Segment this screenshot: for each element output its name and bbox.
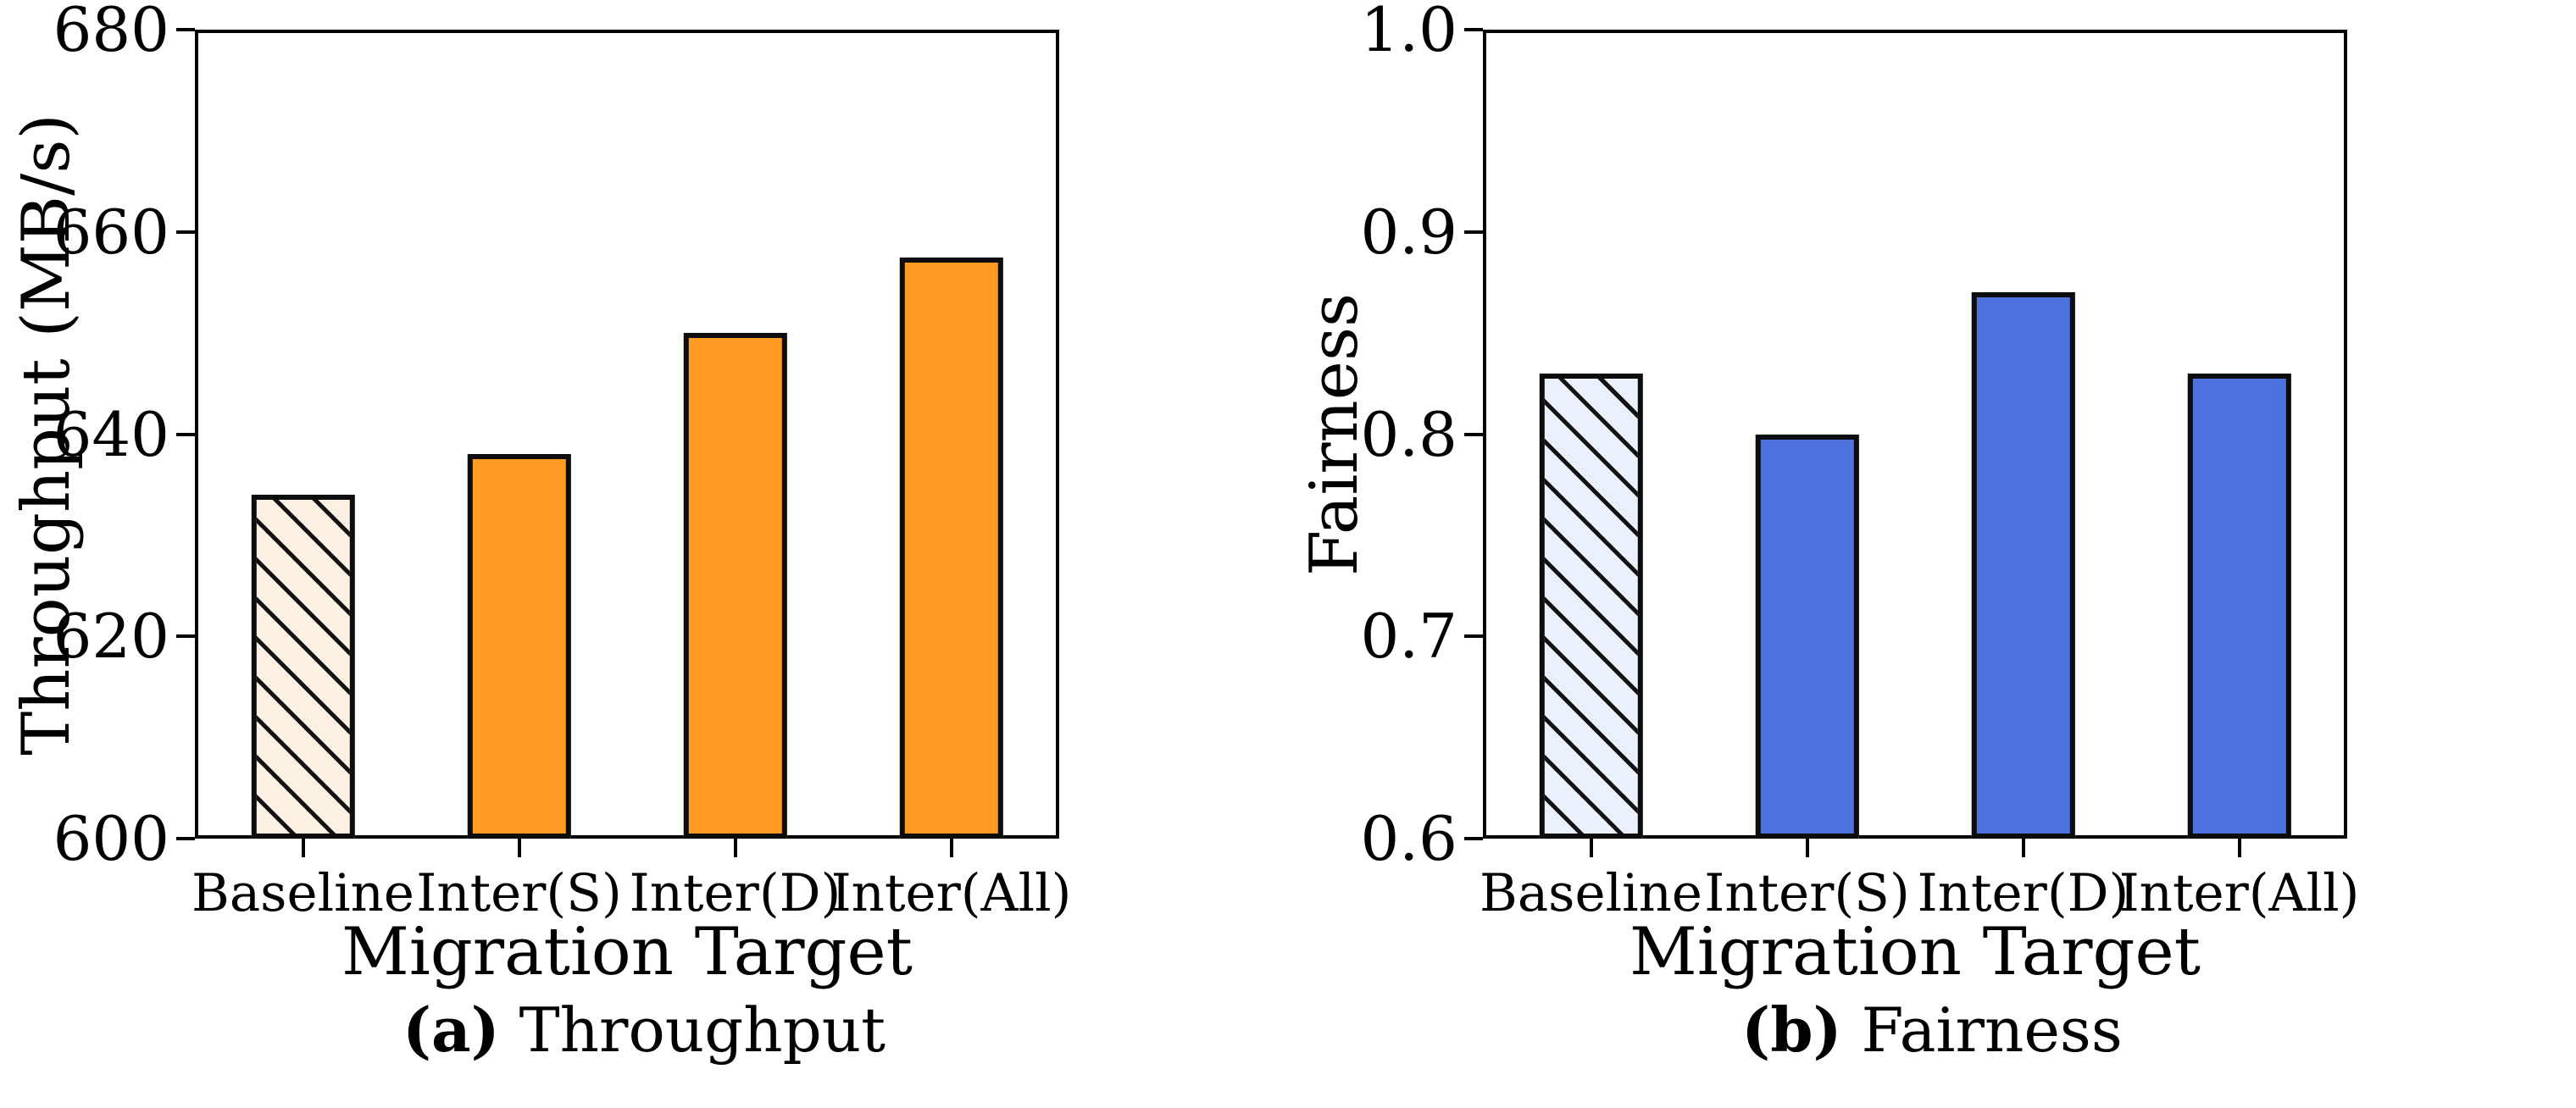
x-tick-label: Inter(S) [416, 867, 622, 919]
y-tick-mark [176, 230, 195, 234]
plot-area-fairness: 0.60.70.80.91.0BaselineInter(S)Inter(D)I… [1483, 30, 2347, 839]
y-tick-label: 0.9 [1360, 202, 1457, 263]
y-tick-label: 600 [53, 808, 169, 869]
y-tick-mark [1464, 433, 1483, 436]
bar-interd [683, 333, 786, 839]
bar-baseline [251, 495, 354, 839]
axes-fairness: 0.60.70.80.91.0BaselineInter(S)Inter(D)I… [1483, 30, 2347, 839]
bar-interd [1971, 292, 2074, 839]
x-tick-label: Inter(D) [1918, 867, 2129, 919]
y-tick-label: 640 [53, 404, 169, 465]
x-axis-label-fairness: Migration Target [1483, 919, 2347, 985]
y-tick-mark [1464, 230, 1483, 234]
y-tick-mark [1464, 837, 1483, 840]
panel-caption-fairness: (b) Fairness [1288, 1000, 2576, 1061]
axes-throughput: 600620640660680BaselineInter(S)Inter(D)I… [195, 30, 1059, 839]
bar-inters [467, 454, 570, 839]
y-tick-mark [176, 837, 195, 840]
y-axis-label-fairness-text: Fairness [1302, 292, 1368, 575]
figure-two-panel-bar-charts: Throughput (MB/s) 600620640660680Baselin… [0, 0, 2576, 1108]
axis-spine-left [195, 30, 198, 839]
bar-interall [2187, 374, 2290, 839]
x-tick-label: Baseline [192, 867, 414, 919]
axis-spine-right [1056, 30, 1059, 839]
y-tick-mark [1464, 634, 1483, 638]
axis-spine-right [2344, 30, 2347, 839]
x-tick-label: Inter(D) [630, 867, 841, 919]
panel-caption-tag-b: (b) [1741, 994, 1841, 1066]
panel-caption-text-a: Throughput [500, 994, 885, 1066]
x-tick-mark [950, 839, 953, 857]
bar-inters [1755, 435, 1858, 839]
x-tick-mark [734, 839, 737, 857]
y-tick-label: 0.8 [1360, 404, 1457, 465]
bar-interall [899, 258, 1002, 839]
axis-spine-top [1483, 30, 2347, 33]
axis-spine-top [195, 30, 1059, 33]
y-tick-mark [176, 634, 195, 638]
x-tick-mark [2022, 839, 2025, 857]
y-tick-label: 680 [53, 0, 169, 60]
x-tick-label: Inter(S) [1704, 867, 1910, 919]
plot-area-throughput: 600620640660680BaselineInter(S)Inter(D)I… [195, 30, 1059, 839]
bar-baseline [1539, 374, 1642, 839]
y-tick-mark [1464, 28, 1483, 31]
y-tick-label: 620 [53, 606, 169, 667]
x-tick-label: Inter(All) [2119, 867, 2360, 919]
x-tick-mark [2238, 839, 2241, 857]
x-tick-mark [302, 839, 305, 857]
panel-caption-throughput: (a) Throughput [0, 1000, 1288, 1061]
panel-caption-tag-a: (a) [402, 994, 500, 1066]
y-tick-label: 1.0 [1360, 0, 1457, 60]
x-tick-mark [1590, 839, 1593, 857]
y-tick-mark [176, 433, 195, 436]
x-tick-mark [518, 839, 521, 857]
panel-fairness: Fairness 0.60.70.80.91.0BaselineInter(S)… [1288, 0, 2576, 1108]
x-tick-label: Baseline [1480, 867, 1702, 919]
y-tick-label: 0.7 [1360, 606, 1457, 667]
panel-caption-text-b: Fairness [1842, 994, 2123, 1066]
y-tick-label: 660 [53, 202, 169, 263]
panel-throughput: Throughput (MB/s) 600620640660680Baselin… [0, 0, 1288, 1108]
x-axis-label-throughput: Migration Target [195, 919, 1059, 985]
y-tick-label: 0.6 [1360, 808, 1457, 869]
x-tick-label: Inter(All) [831, 867, 1072, 919]
axis-spine-left [1483, 30, 1486, 839]
x-tick-mark [1806, 839, 1809, 857]
y-tick-mark [176, 28, 195, 31]
